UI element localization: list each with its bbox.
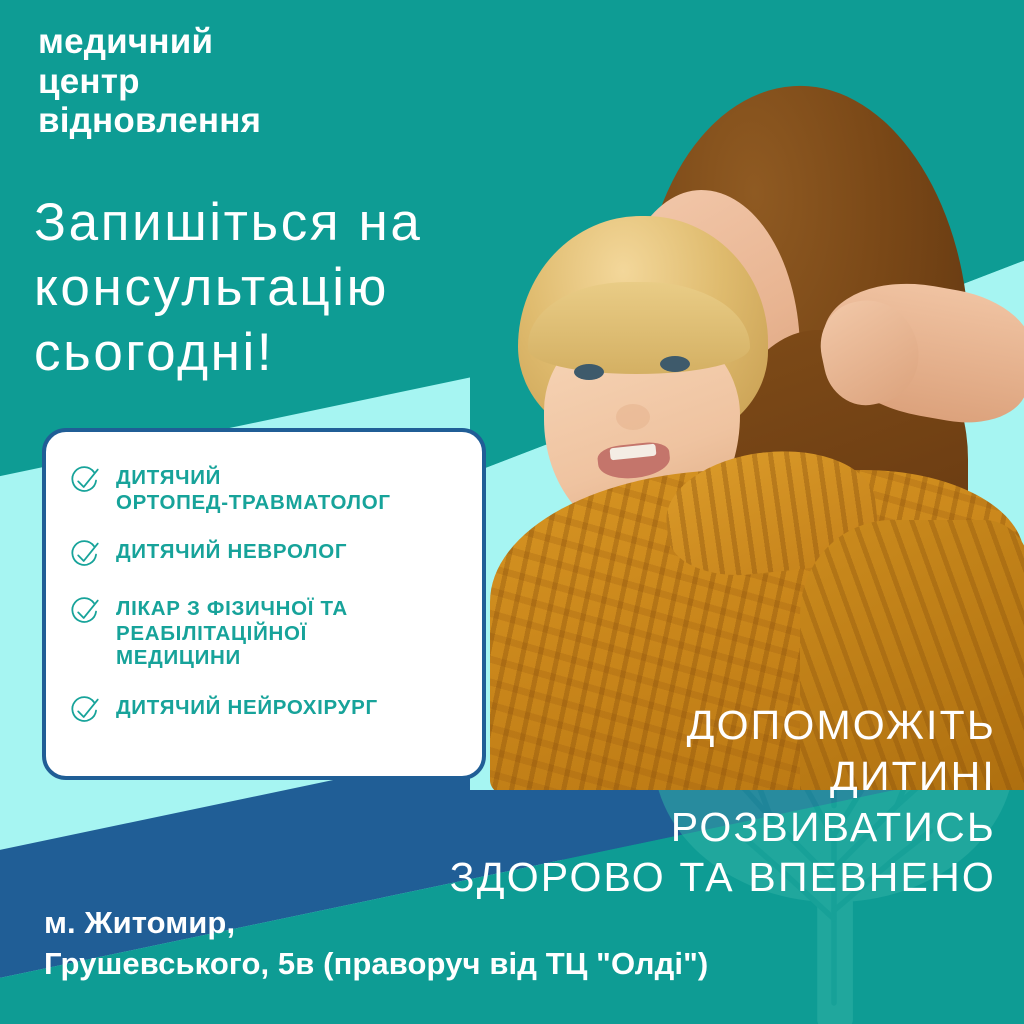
check-circle-icon xyxy=(68,538,102,572)
brand-logo: медичний центр відновлення xyxy=(38,22,261,141)
child-eye-left xyxy=(574,364,604,380)
logo-line-3: відновлення xyxy=(38,101,261,141)
slogan-text: ДОПОМОЖІТЬ ДИТИНІ РОЗВИВАТИСЬ ЗДОРОВО ТА… xyxy=(356,700,996,903)
slogan-line-2: ДИТИНІ xyxy=(356,751,996,802)
service-label: ДИТЯЧИЙ ОРТОПЕД-ТРАВМАТОЛОГ xyxy=(116,466,391,515)
slogan-line-4: ЗДОРОВО ТА ВПЕВНЕНО xyxy=(356,852,996,903)
list-item: ДИТЯЧИЙ НЕВРОЛОГ xyxy=(68,540,456,572)
child-eye-right xyxy=(660,356,690,372)
service-label: ЛІКАР З ФІЗИЧНОЇ ТА РЕАБІЛІТАЦІЙНОЇ МЕДИ… xyxy=(116,597,348,671)
logo-line-2: центр xyxy=(38,62,261,102)
list-item: ДИТЯЧИЙ ОРТОПЕД-ТРАВМАТОЛОГ xyxy=(68,466,456,515)
slogan-line-3: РОЗВИВАТИСЬ xyxy=(356,802,996,853)
list-item: ЛІКАР З ФІЗИЧНОЇ ТА РЕАБІЛІТАЦІЙНОЇ МЕДИ… xyxy=(68,597,456,671)
headline-text: Запишіться на консультацію сьогодні! xyxy=(34,190,554,386)
service-label: ДИТЯЧИЙ НЕВРОЛОГ xyxy=(116,540,347,565)
check-circle-icon xyxy=(68,595,102,629)
mother-and-child-photo xyxy=(470,0,1024,790)
services-list: ДИТЯЧИЙ ОРТОПЕД-ТРАВМАТОЛОГ ДИТЯЧИЙ НЕВР… xyxy=(68,466,456,728)
check-circle-icon xyxy=(68,464,102,498)
address-text: м. Житомир, Грушевського, 5в (праворуч в… xyxy=(44,903,708,984)
check-circle-icon xyxy=(68,694,102,728)
poster-canvas: медичний центр відновлення Запишіться на… xyxy=(0,0,1024,1024)
logo-line-1: медичний xyxy=(38,22,261,62)
service-label: ДИТЯЧИЙ НЕЙРОХІРУРГ xyxy=(116,696,378,721)
slogan-line-1: ДОПОМОЖІТЬ xyxy=(356,700,996,751)
child-nose xyxy=(616,404,650,430)
